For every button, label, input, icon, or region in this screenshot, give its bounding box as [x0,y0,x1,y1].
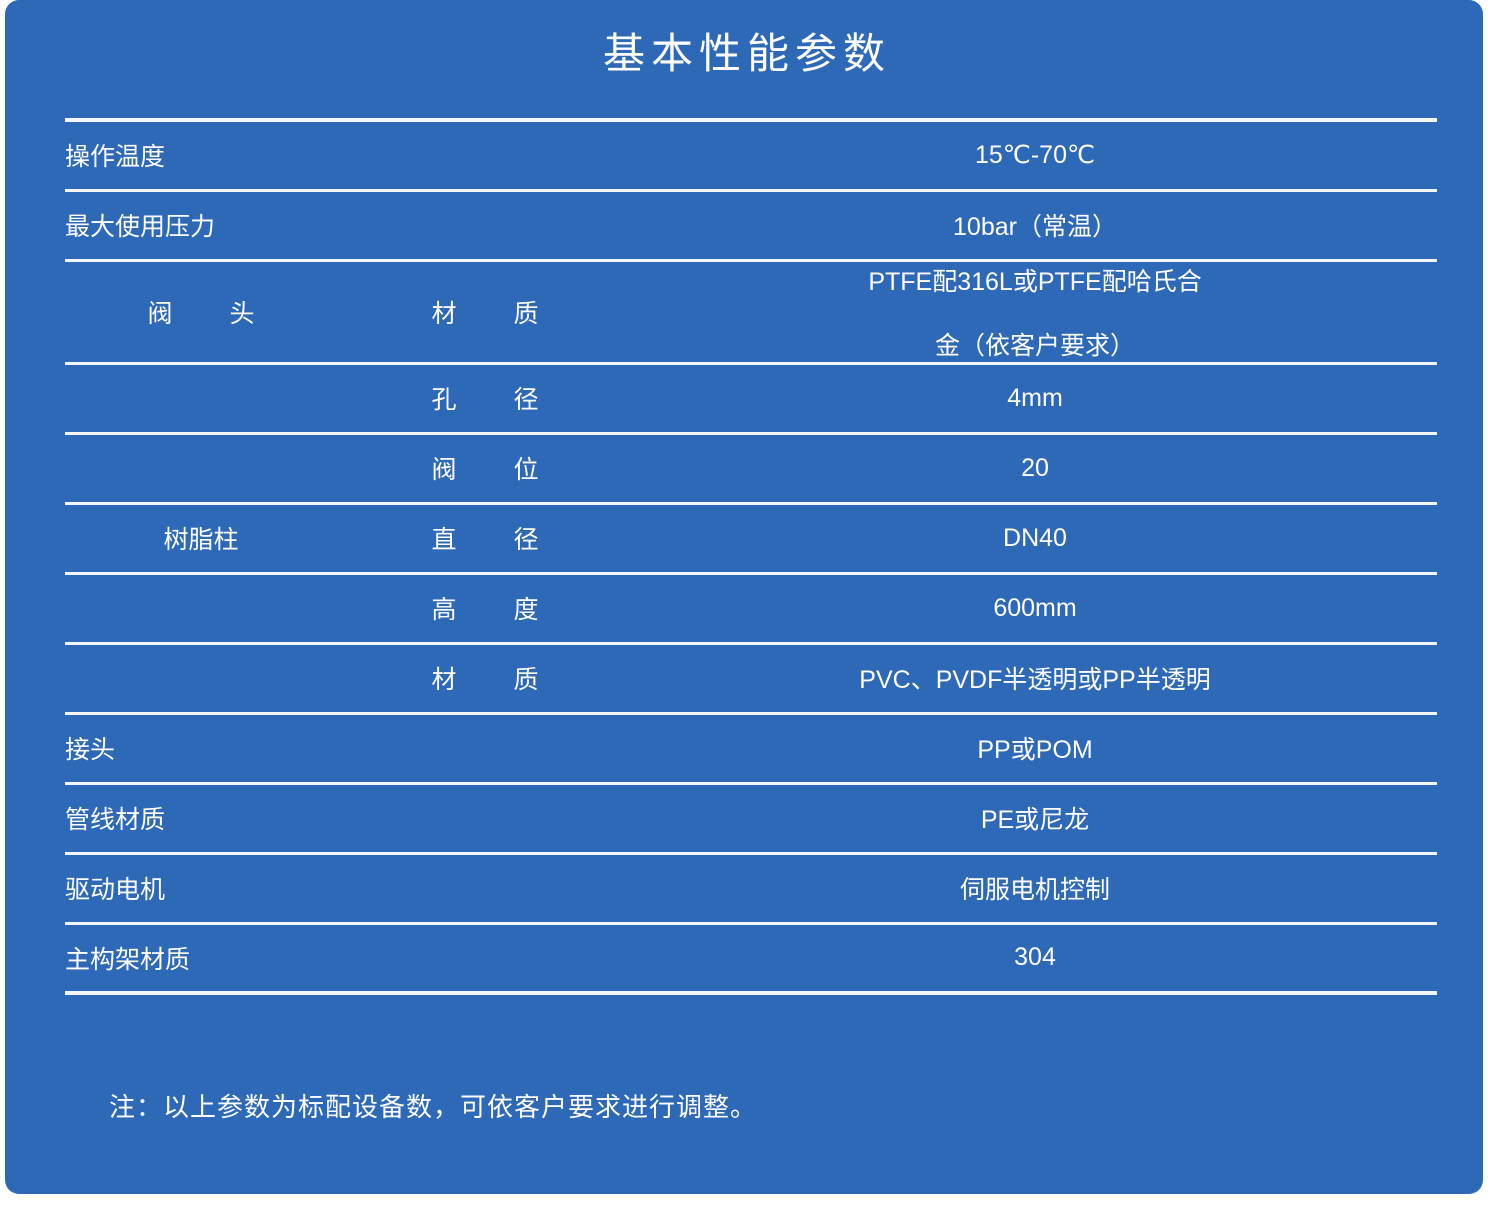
row-label-blank-bore [65,363,337,433]
value-line-1: PTFE配316L或PTFE配哈氏合 [633,262,1437,298]
basic-performance-table: 操作温度 15℃-70℃ 最大使用压力 10bar（常温） 阀 头 材 质 PT… [65,118,1437,995]
row-sublabel-resin-diameter: 直 径 [337,503,633,573]
table-row: 高 度 600mm [65,573,1437,643]
table-row: 树脂柱 直 径 DN40 [65,503,1437,573]
row-label-fitting: 接头 [65,713,633,783]
row-sublabel-valve-head-material: 材 质 [337,260,633,363]
row-value-valve-head-material: PTFE配316L或PTFE配哈氏合 金（依客户要求） [633,260,1437,363]
row-sublabel-resin-material: 材 质 [337,643,633,713]
row-value-fitting: PP或POM [633,713,1437,783]
table-row: 阀 位 20 [65,433,1437,503]
table-row: 阀 头 材 质 PTFE配316L或PTFE配哈氏合 金（依客户要求） [65,260,1437,363]
row-label-blank-height [65,573,337,643]
row-sublabel-resin-height: 高 度 [337,573,633,643]
row-label-resin-column: 树脂柱 [65,503,337,573]
table-row: 驱动电机 伺服电机控制 [65,853,1437,923]
table-row: 接头 PP或POM [65,713,1437,783]
row-label-main-frame-material: 主构架材质 [65,923,633,993]
row-value-resin-material: PVC、PVDF半透明或PP半透明 [633,643,1437,713]
value-line-2: 金（依客户要求） [633,326,1437,362]
footnote: 注：以上参数为标配设备数，可依客户要求进行调整。 [109,1087,1389,1127]
row-value-main-frame-material: 304 [633,923,1437,993]
spec-panel: 基本性能参数 操作温度 15℃-70℃ 最大使用压力 10bar（常温） 阀 头… [5,0,1483,1194]
row-value-pipeline-material: PE或尼龙 [633,783,1437,853]
table-row: 操作温度 15℃-70℃ [65,120,1437,190]
row-label-valve-head: 阀 头 [65,260,337,363]
page-title: 基本性能参数 [5,26,1483,82]
table-row: 材 质 PVC、PVDF半透明或PP半透明 [65,643,1437,713]
row-value-operating-temperature: 15℃-70℃ [633,120,1437,190]
row-label-blank-positions [65,433,337,503]
row-value-resin-diameter: DN40 [633,503,1437,573]
row-label-blank-resin-material [65,643,337,713]
row-value-valve-positions: 20 [633,433,1437,503]
row-value-bore: 4mm [633,363,1437,433]
row-label-max-working-pressure: 最大使用压力 [65,190,633,260]
row-label-operating-temperature: 操作温度 [65,120,633,190]
table-row: 最大使用压力 10bar（常温） [65,190,1437,260]
row-value-resin-height: 600mm [633,573,1437,643]
row-label-drive-motor: 驱动电机 [65,853,633,923]
table-row: 主构架材质 304 [65,923,1437,993]
row-sublabel-valve-positions: 阀 位 [337,433,633,503]
row-sublabel-bore: 孔 径 [337,363,633,433]
table-row: 管线材质 PE或尼龙 [65,783,1437,853]
row-label-pipeline-material: 管线材质 [65,783,633,853]
row-value-max-working-pressure: 10bar（常温） [633,190,1437,260]
table-row: 孔 径 4mm [65,363,1437,433]
row-value-drive-motor: 伺服电机控制 [633,853,1437,923]
